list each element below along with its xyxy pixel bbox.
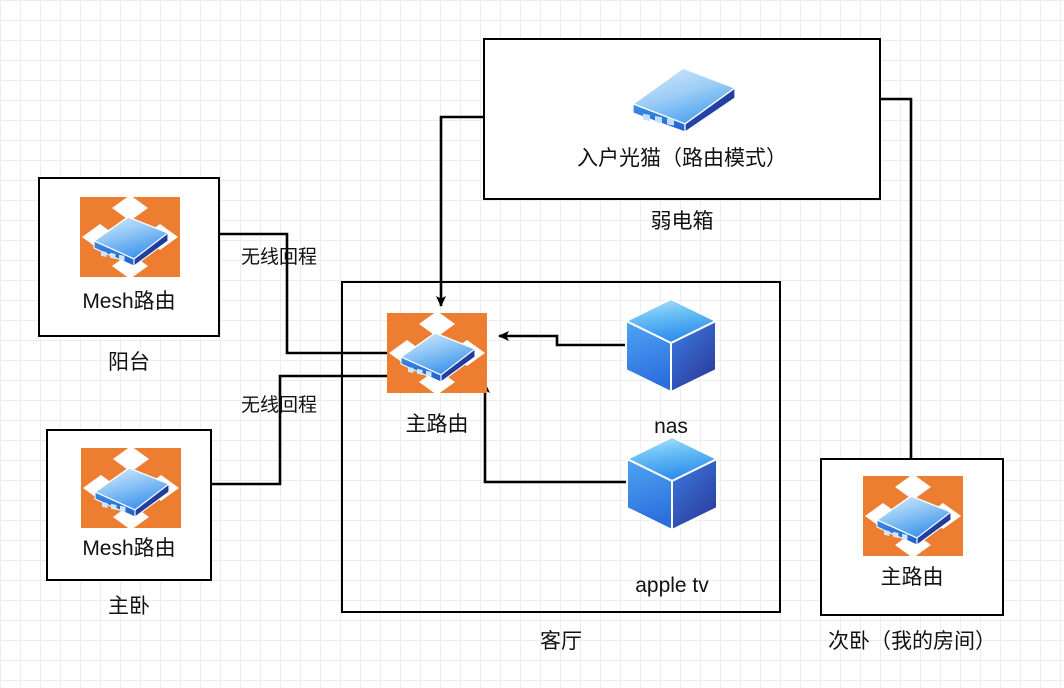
mesh-router-icon[interactable] <box>385 311 489 395</box>
node-label-main-router: 主路由 <box>357 412 517 438</box>
zone-label-livingroom: 客厅 <box>341 629 781 655</box>
node-label-mesh-balcony: Mesh路由 <box>40 289 218 315</box>
zone-label-secondbed: 次卧（我的房间） <box>800 629 1024 655</box>
cube-icon[interactable] <box>624 434 720 534</box>
node-box-router-second[interactable]: 主路由 <box>820 458 1004 616</box>
node-box-ont[interactable]: 入户光猫（路由模式） <box>483 38 881 200</box>
node-label-ont: 入户光猫（路由模式） <box>485 146 879 172</box>
edge-label-wireless-backhaul-bottom: 无线回程 <box>241 394 317 417</box>
zone-label-balcony: 阳台 <box>38 350 220 376</box>
cube-icon[interactable] <box>623 296 719 396</box>
zone-label-masterbed: 主卧 <box>46 594 212 620</box>
node-label-router-second: 主路由 <box>822 565 1002 591</box>
router-device-icon <box>627 62 741 134</box>
node-box-mesh-master[interactable]: Mesh路由 <box>46 429 212 581</box>
node-label-appletv: apple tv <box>592 573 752 599</box>
mesh-router-icon <box>861 474 965 558</box>
mesh-router-icon <box>78 195 182 279</box>
node-label-mesh-master: Mesh路由 <box>48 536 210 562</box>
zone-label-weakbox: 弱电箱 <box>483 209 881 235</box>
edge-label-wireless-backhaul-top: 无线回程 <box>241 246 317 269</box>
mesh-router-icon <box>79 446 183 530</box>
node-box-mesh-balcony[interactable]: Mesh路由 <box>38 177 220 337</box>
